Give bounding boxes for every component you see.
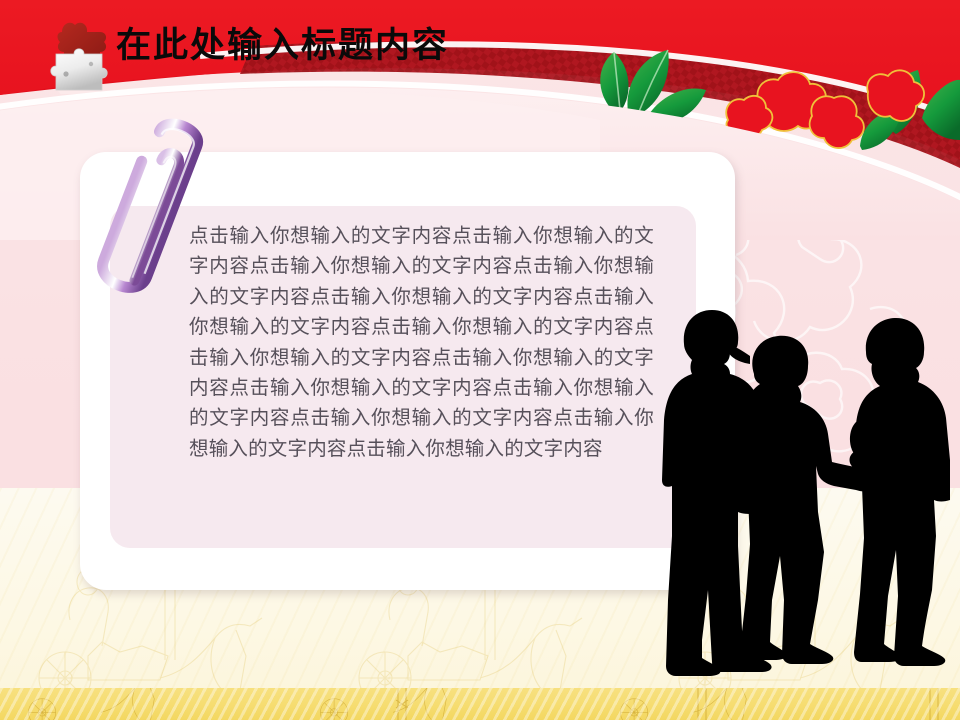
body-placeholder-text[interactable]: 点击输入你想输入的文字内容点击输入你想输入的文字内容点击输入你想输入的文字内容点… [189, 222, 654, 465]
presentation-slide: 在此处输入标题内容 点击输入你想输入的文字内容点击输入你想输入的文字内容点击输入… [0, 0, 960, 720]
page-title: 在此处输入标题内容 [116, 24, 449, 68]
gold-bottom-border [0, 688, 960, 720]
business-people-silhouette [650, 300, 960, 690]
gold-band-motif-icon [0, 688, 960, 720]
puzzle-piece-icon [44, 18, 118, 94]
paperclip-icon [92, 98, 212, 316]
